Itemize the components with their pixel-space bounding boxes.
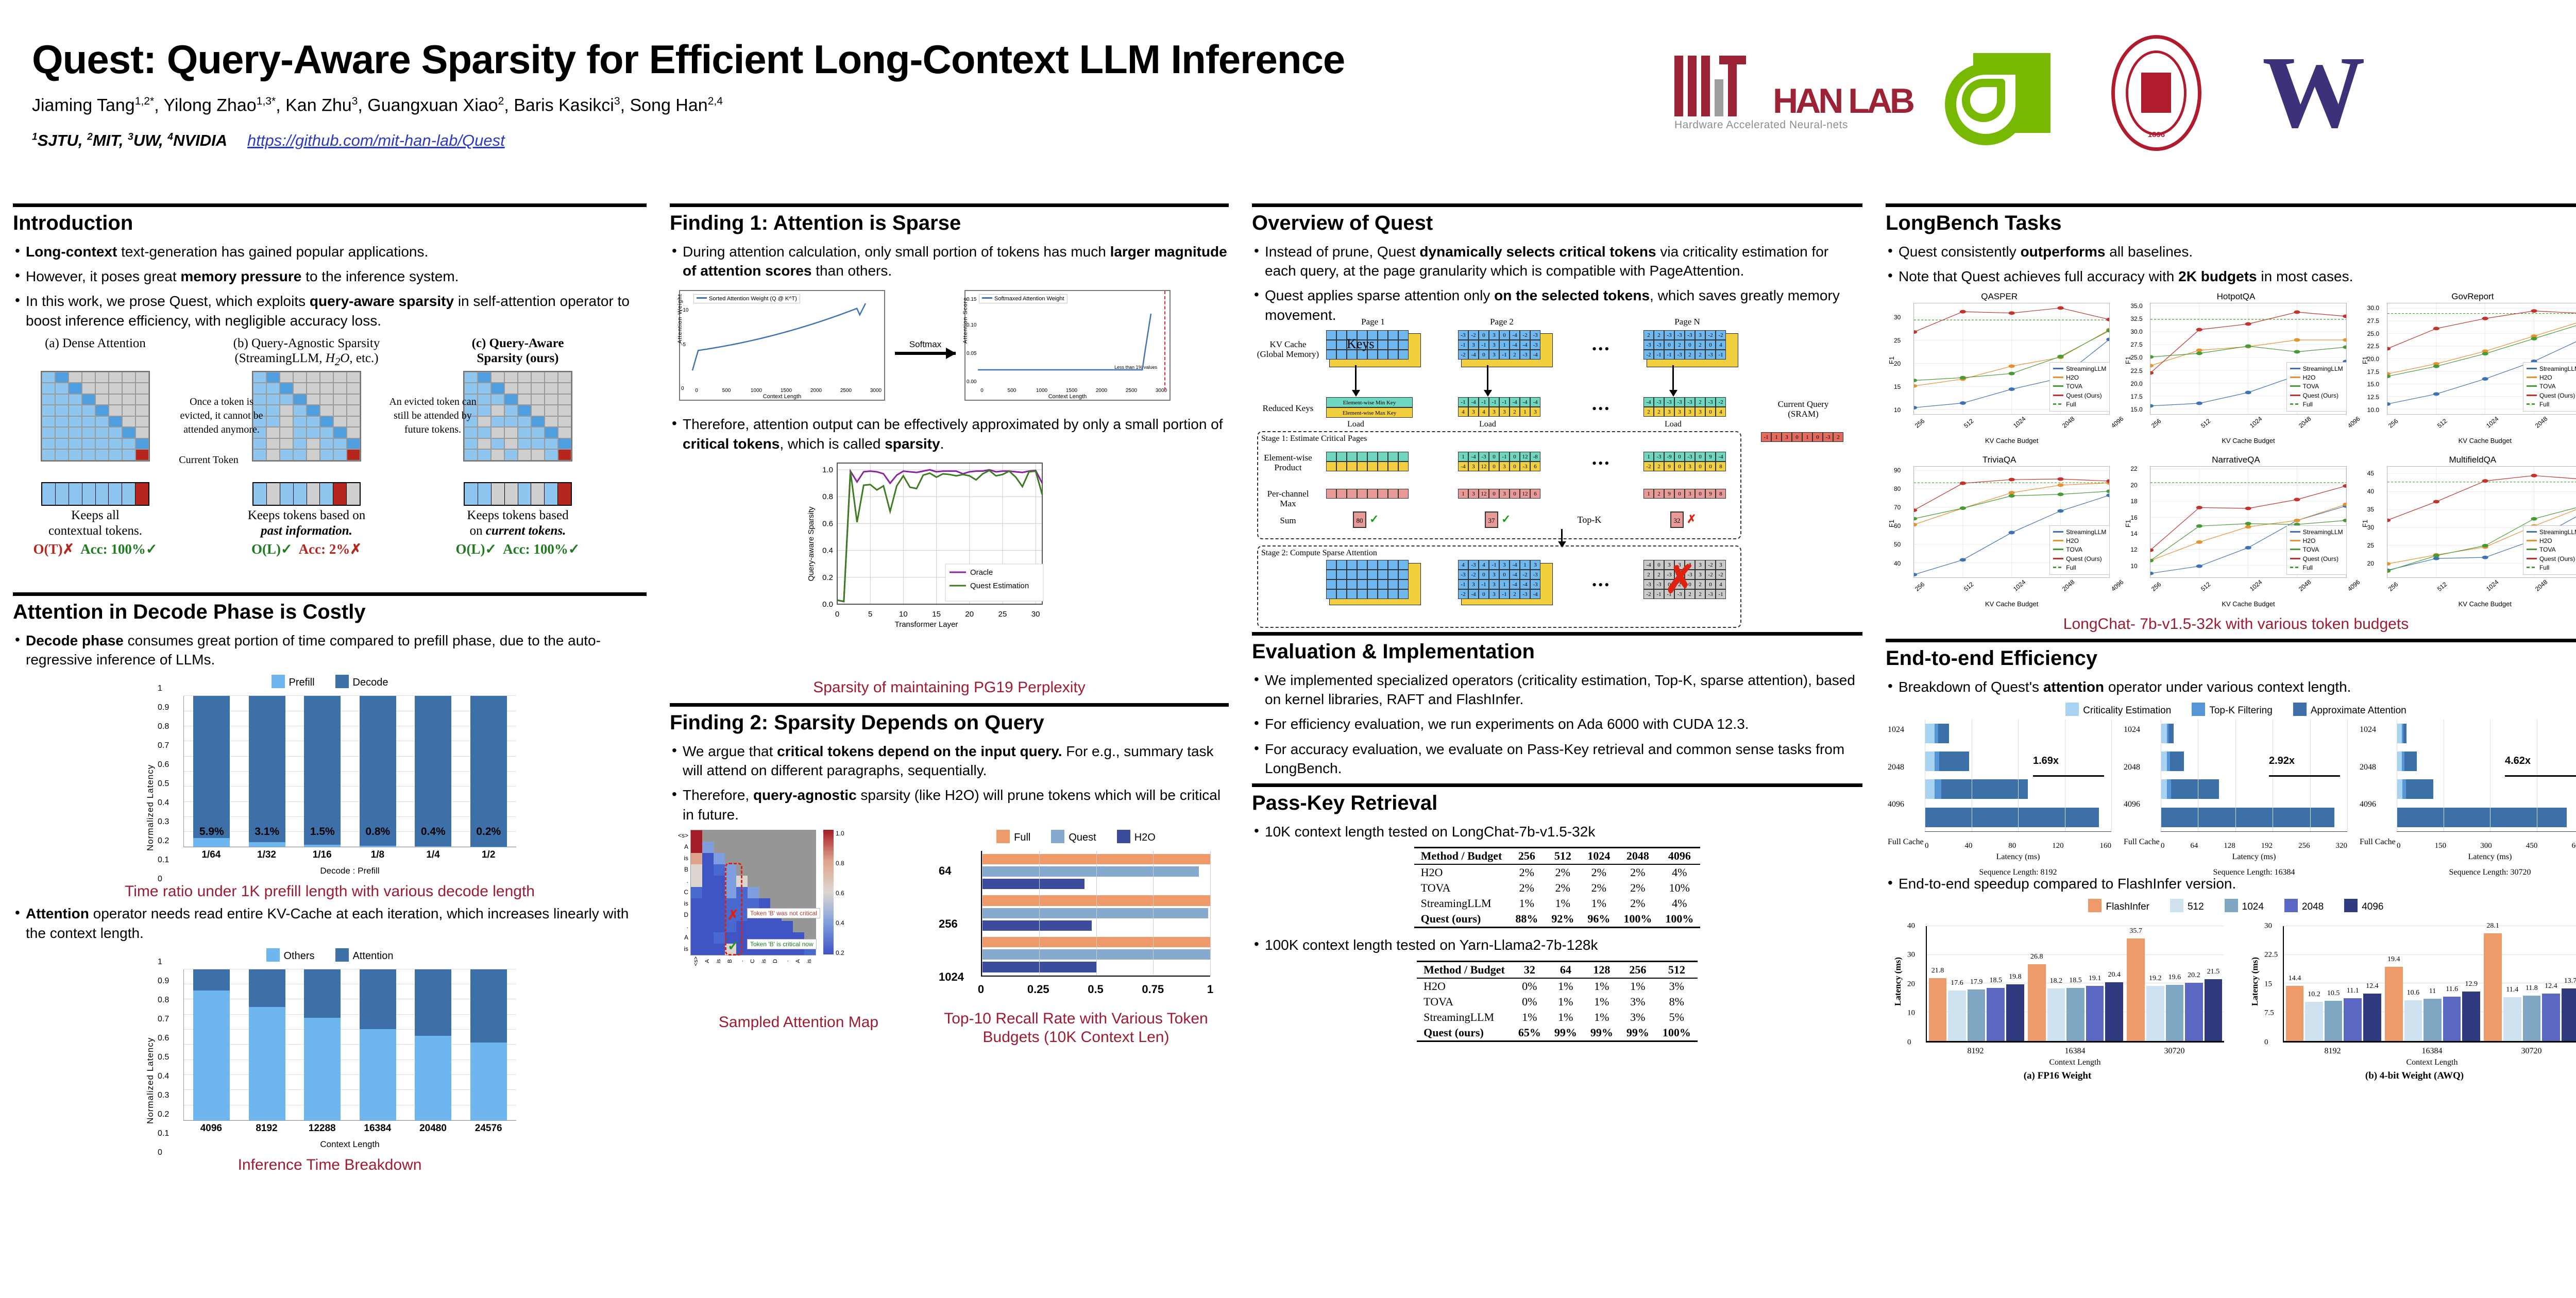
x-axis-label: Context Length	[1926, 1058, 2224, 1067]
table-header-cell: 128	[1584, 961, 1620, 978]
x-tick: 8192	[239, 1123, 295, 1134]
bar: 18.5	[2066, 988, 2084, 1041]
table-header-cell: 512	[1656, 961, 1698, 978]
sum-label: Sum	[1257, 516, 1319, 526]
list-item: We implemented specialized operators (cr…	[1252, 671, 1862, 709]
table-cell: 1%	[1548, 1010, 1584, 1025]
bar: 21.8	[1929, 978, 1947, 1041]
table-cell: H2O	[1414, 864, 1509, 880]
x-tick: 40	[1964, 842, 1972, 850]
repo-link[interactable]: https://github.com/mit-han-lab/Quest	[247, 131, 505, 150]
caption-time-ratio: Time ratio under 1K prefill length with …	[13, 882, 647, 901]
chart-legend: StreamingLLMH2OTOVAQuest (Ours)Full	[2523, 525, 2576, 575]
finding2-figures: <s>AisB.CisD.Ais 1.00.80.60.40.2 <s>AisB…	[670, 830, 1229, 1047]
table-cell: 4%	[1658, 864, 1700, 880]
legend-item: Quest	[1051, 830, 1096, 844]
legend-item: H2O	[1117, 830, 1156, 844]
latency-segment	[2404, 752, 2417, 771]
table-row: StreamingLLM1%1%1%2%4%	[1414, 896, 1701, 911]
table-cell: 88%	[1509, 911, 1545, 928]
latency-row	[2161, 803, 2347, 831]
bar: 17.9	[1968, 989, 1986, 1041]
table-header-cell: 64	[1548, 961, 1584, 978]
y-tick: 1024	[1888, 725, 1904, 735]
legend-item: Quest (Ours)	[2290, 391, 2343, 400]
bar-1/16: 1.5%	[295, 696, 350, 847]
latency-segment	[1925, 779, 1935, 799]
svg-text:0.6: 0.6	[822, 519, 833, 528]
latency-segment	[2397, 724, 2402, 743]
bar: 17.6	[1948, 990, 1966, 1041]
e2e-speedup-charts: 21.817.617.918.519.826.818.218.519.120.4…	[1886, 913, 2576, 1083]
x-tick: 300	[2480, 842, 2492, 850]
y-tick: 4096	[1888, 800, 1904, 809]
bar: 21.5	[2205, 979, 2223, 1041]
y-tick: 30	[1907, 951, 1915, 960]
y-tick: 1024	[2124, 725, 2140, 735]
nvidia-logo	[1973, 53, 2050, 133]
longbench-bullets: Quest consistently outperforms all basel…	[1886, 242, 2576, 286]
table-cell: 2%	[1545, 880, 1581, 896]
chart-legend: StreamingLLMH2OTOVAQuest (Ours)Full	[2049, 362, 2110, 412]
svg-text:1.0: 1.0	[822, 466, 833, 474]
table-header-cell: Method / Budget	[1417, 961, 1512, 978]
latency-segment	[2397, 779, 2402, 799]
chart-sorted-attention-weight: Sorted Attention Weight (Q @ K^T)0-5-100…	[679, 290, 885, 401]
divider	[1252, 632, 1862, 636]
bar-value-label: 26.8	[2028, 953, 2046, 961]
elemwise-product-label: Element-wiseProduct	[1252, 453, 1324, 473]
section-heading-longbench: LongBench Tasks	[1886, 212, 2576, 235]
y-tick: 30	[2264, 921, 2272, 930]
column-2: Finding 1: Attention is Sparse During at…	[670, 203, 1229, 1047]
bar-group: 21.817.617.918.519.8	[1927, 926, 2026, 1041]
latency-row	[2161, 720, 2347, 747]
quest-architecture-diagram: KV Cache(Global Memory)Page 1Page 2Page …	[1252, 330, 1852, 629]
speedup-arrow	[2033, 775, 2104, 777]
latency-segment	[1941, 779, 2028, 799]
latency-row	[2161, 747, 2347, 775]
bar-value-label: 18.5	[1987, 977, 2005, 985]
table-header-cell: Method / Budget	[1414, 848, 1509, 865]
divider	[670, 703, 1229, 707]
bar-value-label: 19.8	[2006, 973, 2024, 981]
ellipsis: •••	[1592, 341, 1611, 357]
legend-item: 2048	[2284, 899, 2324, 913]
bar: 19.6	[2166, 985, 2184, 1041]
legend-item: TOVA	[2053, 382, 2106, 391]
sparsity-plot: 0.00.20.40.60.81.0051015202530 OracleQue…	[805, 459, 1047, 643]
bar-value-label: 10.2	[2305, 990, 2323, 999]
y-tick: Full Cache	[2360, 838, 2396, 847]
bar-value-label: 35.7	[2127, 927, 2145, 935]
bar-value-label: 21.5	[2205, 968, 2223, 976]
latency-segment	[1925, 808, 2099, 827]
latency-segment	[1935, 752, 1939, 771]
x-tick: 24576	[461, 1123, 516, 1134]
bar: 28.1	[2484, 933, 2502, 1041]
chart-longbench-govreport: GovReport 10.012.515.017.520.022.525.027…	[2359, 292, 2576, 449]
svg-text:25: 25	[998, 610, 1007, 619]
bar: 20.2	[2185, 983, 2203, 1041]
x-axis-label: Context Length	[965, 394, 1170, 400]
attention-latency-breakdown-charts: 1.69x 102420484096Full Cache 04080120160…	[1886, 716, 2576, 866]
bar: 18.5	[1987, 988, 2005, 1041]
caption-longbench: LongChat- 7b-v1.5-32k with various token…	[1886, 615, 2576, 634]
column-1: Introduction Long-context text-generatio…	[13, 203, 647, 1174]
pageN-reduced: -4-3-3-3-32-3-222333304	[1643, 397, 1726, 417]
table-cell: 96%	[1581, 911, 1617, 928]
legend-item: H2O	[2290, 373, 2343, 382]
bar-value-label: 17.6	[1948, 979, 1966, 987]
sum-mark: ✓	[1501, 513, 1511, 526]
table-cell: 2%	[1509, 864, 1545, 880]
x-axis-label: KV Cache Budget	[2387, 600, 2576, 608]
mit-han-lab-logo: HAN LAB Hardware Accelerated Neural-nets	[1674, 55, 1912, 131]
plot-area: 4.62x	[2397, 720, 2576, 832]
x-axis-label: Decode : Prefill	[183, 866, 516, 876]
panel-b-acc: Acc: 2%	[299, 541, 350, 557]
figure-top10-recall: FullQuestH2O 64256102400.250.50.751 Top-…	[936, 830, 1216, 1047]
chart-legend: StreamingLLMH2OTOVAQuest (Ours)Full	[2286, 362, 2347, 412]
latency-segment	[2167, 779, 2171, 799]
chart-title: HotpotQA	[2122, 292, 2349, 302]
table-cell: 1%	[1509, 896, 1545, 911]
latency-panel: 4.62x 102420484096Full Cache 01503004506…	[2358, 716, 2576, 866]
svg-text:Oracle: Oracle	[970, 568, 993, 577]
latency-segment	[1925, 724, 1935, 743]
legend-item: Quest (Ours)	[2290, 555, 2343, 563]
table-header-cell: 512	[1545, 848, 1581, 865]
table-cell: 1%	[1584, 978, 1620, 994]
y-tick: Full Cache	[2124, 838, 2160, 847]
x-tick: 80	[2008, 842, 2016, 850]
kv-cache-label: KV Cache(Global Memory)	[1252, 339, 1324, 360]
table-cell: 1%	[1512, 1010, 1548, 1025]
legend-item: Full	[2527, 563, 2576, 572]
chart-legend: StreamingLLMH2OTOVAQuest (Ours)Full	[2286, 525, 2347, 575]
passkey-bullet-2: 100K context length tested on Yarn-Llama…	[1252, 935, 1862, 954]
sum-value: 32	[1670, 511, 1684, 528]
latency-segment	[2397, 752, 2402, 771]
bar: 10.5	[2325, 1001, 2343, 1041]
bar-value-label: 12.9	[2462, 980, 2480, 988]
chart-longbench-triviaqa: TriviaQA 405060708090 256512102420484096…	[1886, 455, 2113, 612]
pageN-pcmax: 12903098	[1643, 489, 1726, 499]
table-cell: 1%	[1548, 978, 1584, 994]
bar-group: 35.719.219.620.221.5	[2125, 926, 2224, 1041]
bar-16384	[350, 969, 406, 1120]
passkey-bullet-1: 10K context length tested on LongChat-7b…	[1252, 822, 1862, 841]
table-passkey-100k: Method / Budget3264128256512 H2O0%1%1%1%…	[1417, 961, 1698, 1042]
divider	[1252, 783, 1862, 787]
x-tick: 1/16	[294, 849, 350, 861]
page2-reduced: -1-4-1-1-1-4-4-443433213	[1458, 397, 1540, 417]
y-tick: 15	[2264, 980, 2272, 988]
chart-title: GovReport	[2359, 292, 2576, 302]
latency-segment	[2171, 779, 2219, 799]
legend-item: TOVA	[2527, 382, 2576, 391]
bar-value-label: 10.6	[2404, 989, 2422, 997]
page1-reduced: Element-wise Min KeyElement-wise Max Key	[1326, 397, 1413, 418]
note-evicted-can-attend: An evicted token can still be attended b…	[386, 395, 479, 437]
legend-item: Decode	[335, 675, 388, 689]
recall-bar	[982, 866, 1199, 877]
legend-item: StreamingLLM	[2290, 528, 2343, 537]
legend-item: Quest (Ours)	[2527, 391, 2576, 400]
section-heading-decode: Attention in Decode Phase is Costly	[13, 601, 647, 624]
x-axis-label: Latency (ms)	[2161, 852, 2347, 862]
y-axis-label: F1	[2361, 520, 2369, 527]
y-axis-label: Latency (ms)	[1893, 958, 1903, 1006]
plot-area: 14.410.210.511.112.419.410.61111.612.928…	[2283, 926, 2576, 1043]
chart-title: (b) 4-bit Weight (AWQ)	[2243, 1070, 2576, 1082]
chart-title: QASPER	[1886, 292, 2113, 302]
table-cell: 1%	[1584, 994, 1620, 1010]
bar-value-label: 19.6	[2166, 973, 2184, 982]
page-label: Page 1	[1329, 317, 1417, 327]
e2e-bullet-1: Breakdown of Quest's attention operator …	[1886, 677, 2576, 696]
x-axis-label: Latency (ms)	[2397, 852, 2576, 862]
svg-text:Quest Estimation: Quest Estimation	[970, 582, 1029, 590]
table-row: H2O0%1%1%1%3%	[1417, 978, 1698, 994]
x-tick: 64	[2190, 842, 2198, 850]
x-tick: 30720	[2482, 1047, 2576, 1056]
table-row: TOVA2%2%2%2%10%	[1414, 880, 1701, 896]
table-row: H2O2%2%2%2%4%	[1414, 864, 1701, 880]
latency-row	[2397, 775, 2576, 803]
chart-title: TriviaQA	[1886, 455, 2113, 465]
divider	[670, 203, 1229, 207]
legend-item: Prefill	[272, 675, 315, 689]
bar: 10.6	[2404, 1000, 2422, 1041]
latency-segment	[2161, 779, 2167, 799]
bar: 11.8	[2523, 996, 2541, 1041]
pageN-keys: 22-3-3-33-2-2-3-3020204-2-1-1-322-3-1	[1643, 330, 1726, 360]
bar-value-label: 11	[2424, 987, 2442, 996]
heatmap-colorbar: 1.00.80.60.40.2	[823, 830, 855, 954]
list-item: Quest consistently outperforms all basel…	[1886, 242, 2576, 261]
table-header-cell: 32	[1512, 961, 1548, 978]
table-header-cell: 1024	[1581, 848, 1617, 865]
bar: 35.7	[2127, 938, 2145, 1041]
x-tick: 0	[978, 983, 984, 996]
table-cell: StreamingLLM	[1414, 896, 1509, 911]
latency-panel: 1.69x 102420484096Full Cache 04080120160…	[1886, 716, 2114, 866]
table-cell: 2%	[1545, 864, 1581, 880]
bar: 12.9	[2462, 992, 2480, 1041]
legend-item: H2O	[2527, 537, 2576, 545]
overview-bullets: Instead of prune, Quest dynamically sele…	[1252, 242, 1862, 324]
agnostic-token-strip	[252, 482, 361, 506]
bar: 19.8	[2006, 984, 2024, 1041]
plot-area: 1.69x	[1925, 720, 2111, 832]
svg-text:30: 30	[1031, 610, 1040, 619]
finding1-bullet-1: During attention calculation, only small…	[670, 242, 1229, 280]
latency-segment	[2397, 808, 2567, 827]
legend-item: H2O	[2053, 537, 2106, 545]
bar-value-label: 11.8	[2523, 984, 2541, 993]
recall-bar	[982, 879, 1084, 889]
legend-item: Quest (Ours)	[2053, 391, 2106, 400]
legend-item: Others	[266, 948, 315, 962]
bar: 11.4	[2503, 997, 2521, 1041]
bar: 13.7	[2562, 988, 2576, 1041]
svg-text:Transformer Layer: Transformer Layer	[894, 620, 958, 629]
table-cell: 99%	[1548, 1025, 1584, 1041]
y-axis-label: Normalized Latency	[145, 764, 156, 851]
section-heading-passkey: Pass-Key Retrieval	[1252, 792, 1862, 815]
list-item: Therefore, query-agnostic sparsity (like…	[670, 785, 1229, 824]
bar-1/4: 0.4%	[405, 696, 461, 847]
list-item: Instead of prune, Quest dynamically sele…	[1252, 242, 1862, 280]
svg-text:0.8: 0.8	[822, 492, 833, 501]
bar-value-label: 11.6	[2443, 985, 2461, 994]
bar-1/64: 5.9%	[184, 696, 240, 847]
legend-item: Criticality Estimation	[2065, 703, 2171, 716]
divider	[1886, 639, 2576, 642]
caption-top10-recall: Top-10 Recall Rate with Various Token Bu…	[936, 1010, 1216, 1047]
line-path	[965, 291, 1172, 402]
speedup-label: 2.92x	[2269, 755, 2295, 767]
x-tick: 320	[2335, 842, 2347, 850]
latency-segment	[2406, 779, 2433, 799]
table-row: TOVA0%1%1%3%8%	[1417, 994, 1698, 1010]
table-cell: 3%	[1620, 1010, 1656, 1025]
y-tick: 0	[1907, 1038, 1911, 1047]
annotation-critical-now: Token 'B' is critical now	[747, 939, 817, 949]
svg-text:Query-aware Sparsity: Query-aware Sparsity	[807, 506, 816, 582]
bar-value-label: 18.5	[2066, 977, 2084, 985]
y-tick: 1024	[939, 970, 964, 984]
plot-area	[183, 969, 516, 1121]
plot-area: 5.9%3.1%1.5%0.8%0.4%0.2%	[183, 696, 516, 847]
current-query-label: Current Query(SRAM)	[1762, 399, 1844, 419]
table-cell: 2%	[1581, 864, 1617, 880]
x-tick: 1/4	[405, 849, 461, 861]
x-tick: 1/8	[350, 849, 405, 861]
x-axis-label: Context Length	[680, 394, 884, 400]
svg-text:0: 0	[835, 610, 839, 619]
x-tick: 8192	[1926, 1047, 2025, 1056]
dense-attention-grid	[41, 371, 150, 462]
table-cell: 2%	[1617, 864, 1658, 880]
bar-value-label: 11.4	[2503, 986, 2521, 994]
latency-segment	[2403, 724, 2406, 743]
bar-value-label: 19.1	[2086, 975, 2104, 983]
legend-item: Quest (Ours)	[2053, 555, 2106, 563]
table-header-cell: 256	[1509, 848, 1545, 865]
x-axis-label: Latency (ms)	[1925, 852, 2111, 862]
table-cell: 100%	[1617, 911, 1658, 928]
x-tick: 600	[2572, 842, 2576, 850]
x-tick: 0	[1925, 842, 1929, 850]
page2-keys: -3-2030-4-2-3-13-131-4-4-3-2-403-12-3-4	[1458, 330, 1540, 360]
panel-a-title: (a) Dense Attention	[18, 336, 173, 368]
svg-text:0.4: 0.4	[822, 546, 833, 555]
load-label: Load	[1479, 420, 1496, 429]
bar-1/8: 0.8%	[350, 696, 406, 847]
table-passkey-10k: Method / Budget256512102420484096 H2O2%2…	[1414, 847, 1701, 928]
bar: 11.1	[2344, 998, 2362, 1041]
x-tick: 16384	[2382, 1047, 2482, 1056]
y-axis-label: F1	[2124, 356, 2132, 364]
latency-segment	[1939, 752, 1969, 771]
legend-item: Full	[996, 830, 1030, 844]
panel-a-complexity: O(T)	[33, 541, 63, 557]
y-tick: 22.5	[2264, 951, 2278, 960]
svg-text:20: 20	[965, 610, 974, 619]
latency-segment	[1925, 752, 1935, 771]
bar-group: 19.410.61111.612.9	[2383, 926, 2482, 1041]
stage1-box	[1257, 431, 1741, 539]
current-query-values: -113010-32	[1761, 432, 1843, 442]
table-row: Quest (ours)65%99%99%99%100%	[1417, 1025, 1698, 1041]
table-cell: H2O	[1417, 978, 1512, 994]
attention-heatmap	[690, 830, 816, 955]
x-axis-label: KV Cache Budget	[2387, 437, 2576, 445]
table-cell: 0%	[1512, 978, 1548, 994]
legend-prefill-decode: PrefillDecode	[13, 675, 647, 689]
legend-item: StreamingLLM	[2527, 365, 2576, 373]
latency-segment	[2168, 724, 2174, 743]
sjtu-logo: 1896	[2111, 35, 2201, 151]
line-path	[680, 291, 886, 402]
legend-item: TOVA	[2290, 382, 2343, 391]
list-item: However, it poses great memory pressure …	[13, 267, 647, 286]
latency-panel: 2.92x 102420484096Full Cache 06412819225…	[2122, 716, 2350, 866]
table-cell: 2%	[1617, 880, 1658, 896]
x-tick: 0.25	[1027, 983, 1049, 996]
legend-item: TOVA	[2290, 545, 2343, 554]
bar-4096	[184, 969, 240, 1120]
x-tick: 1	[1207, 983, 1213, 996]
reduced-keys-label: Reduced Keys	[1252, 403, 1324, 414]
legend-item: FlashInfer	[2088, 899, 2149, 913]
x-axis-label: Context Length	[183, 1139, 516, 1150]
chart-prefill-decode-ratio: PrefillDecode Normalized Latency 00.10.2…	[13, 675, 647, 879]
legend-item: Approximate Attention	[2293, 703, 2406, 716]
table-cell: 8%	[1656, 994, 1698, 1010]
svg-text:10: 10	[899, 610, 908, 619]
y-tick: 7.5	[2264, 1009, 2274, 1018]
finding2-bullets: We argue that critical tokens depend on …	[670, 742, 1229, 824]
y-axis-label: F1	[2124, 520, 2132, 527]
legend-item: TOVA	[2053, 545, 2106, 554]
sum-value: 80	[1353, 511, 1366, 528]
bar-24576	[461, 969, 517, 1120]
chart-softmaxed-attention-weight: Softmaxed Attention Weight0.000.050.100.…	[964, 290, 1171, 401]
latency-row	[2161, 775, 2347, 803]
y-tick: 64	[939, 864, 951, 878]
cross-mark-icon: ✗	[727, 907, 739, 923]
table-cell: Quest (ours)	[1417, 1025, 1512, 1041]
sum-value: 37	[1485, 511, 1498, 528]
x-tick: 120	[2052, 842, 2064, 850]
bar: 19.1	[2086, 986, 2104, 1040]
annotation-not-critical: Token 'B' was not critical	[747, 908, 820, 918]
table-row: Quest (ours)88%92%96%100%100%	[1414, 911, 1701, 928]
bar: 19.2	[2146, 986, 2164, 1041]
x-tick: 128	[2224, 842, 2235, 850]
y-tick: 2048	[2360, 763, 2376, 772]
x-tick: 1/64	[183, 849, 239, 861]
list-item: Note that Quest achieves full accuracy w…	[1886, 267, 2576, 286]
table-cell: 2%	[1509, 880, 1545, 896]
list-item: For efficiency evaluation, we run experi…	[1252, 714, 1862, 733]
table-cell: 1%	[1620, 978, 1656, 994]
latency-segment	[2161, 724, 2167, 743]
